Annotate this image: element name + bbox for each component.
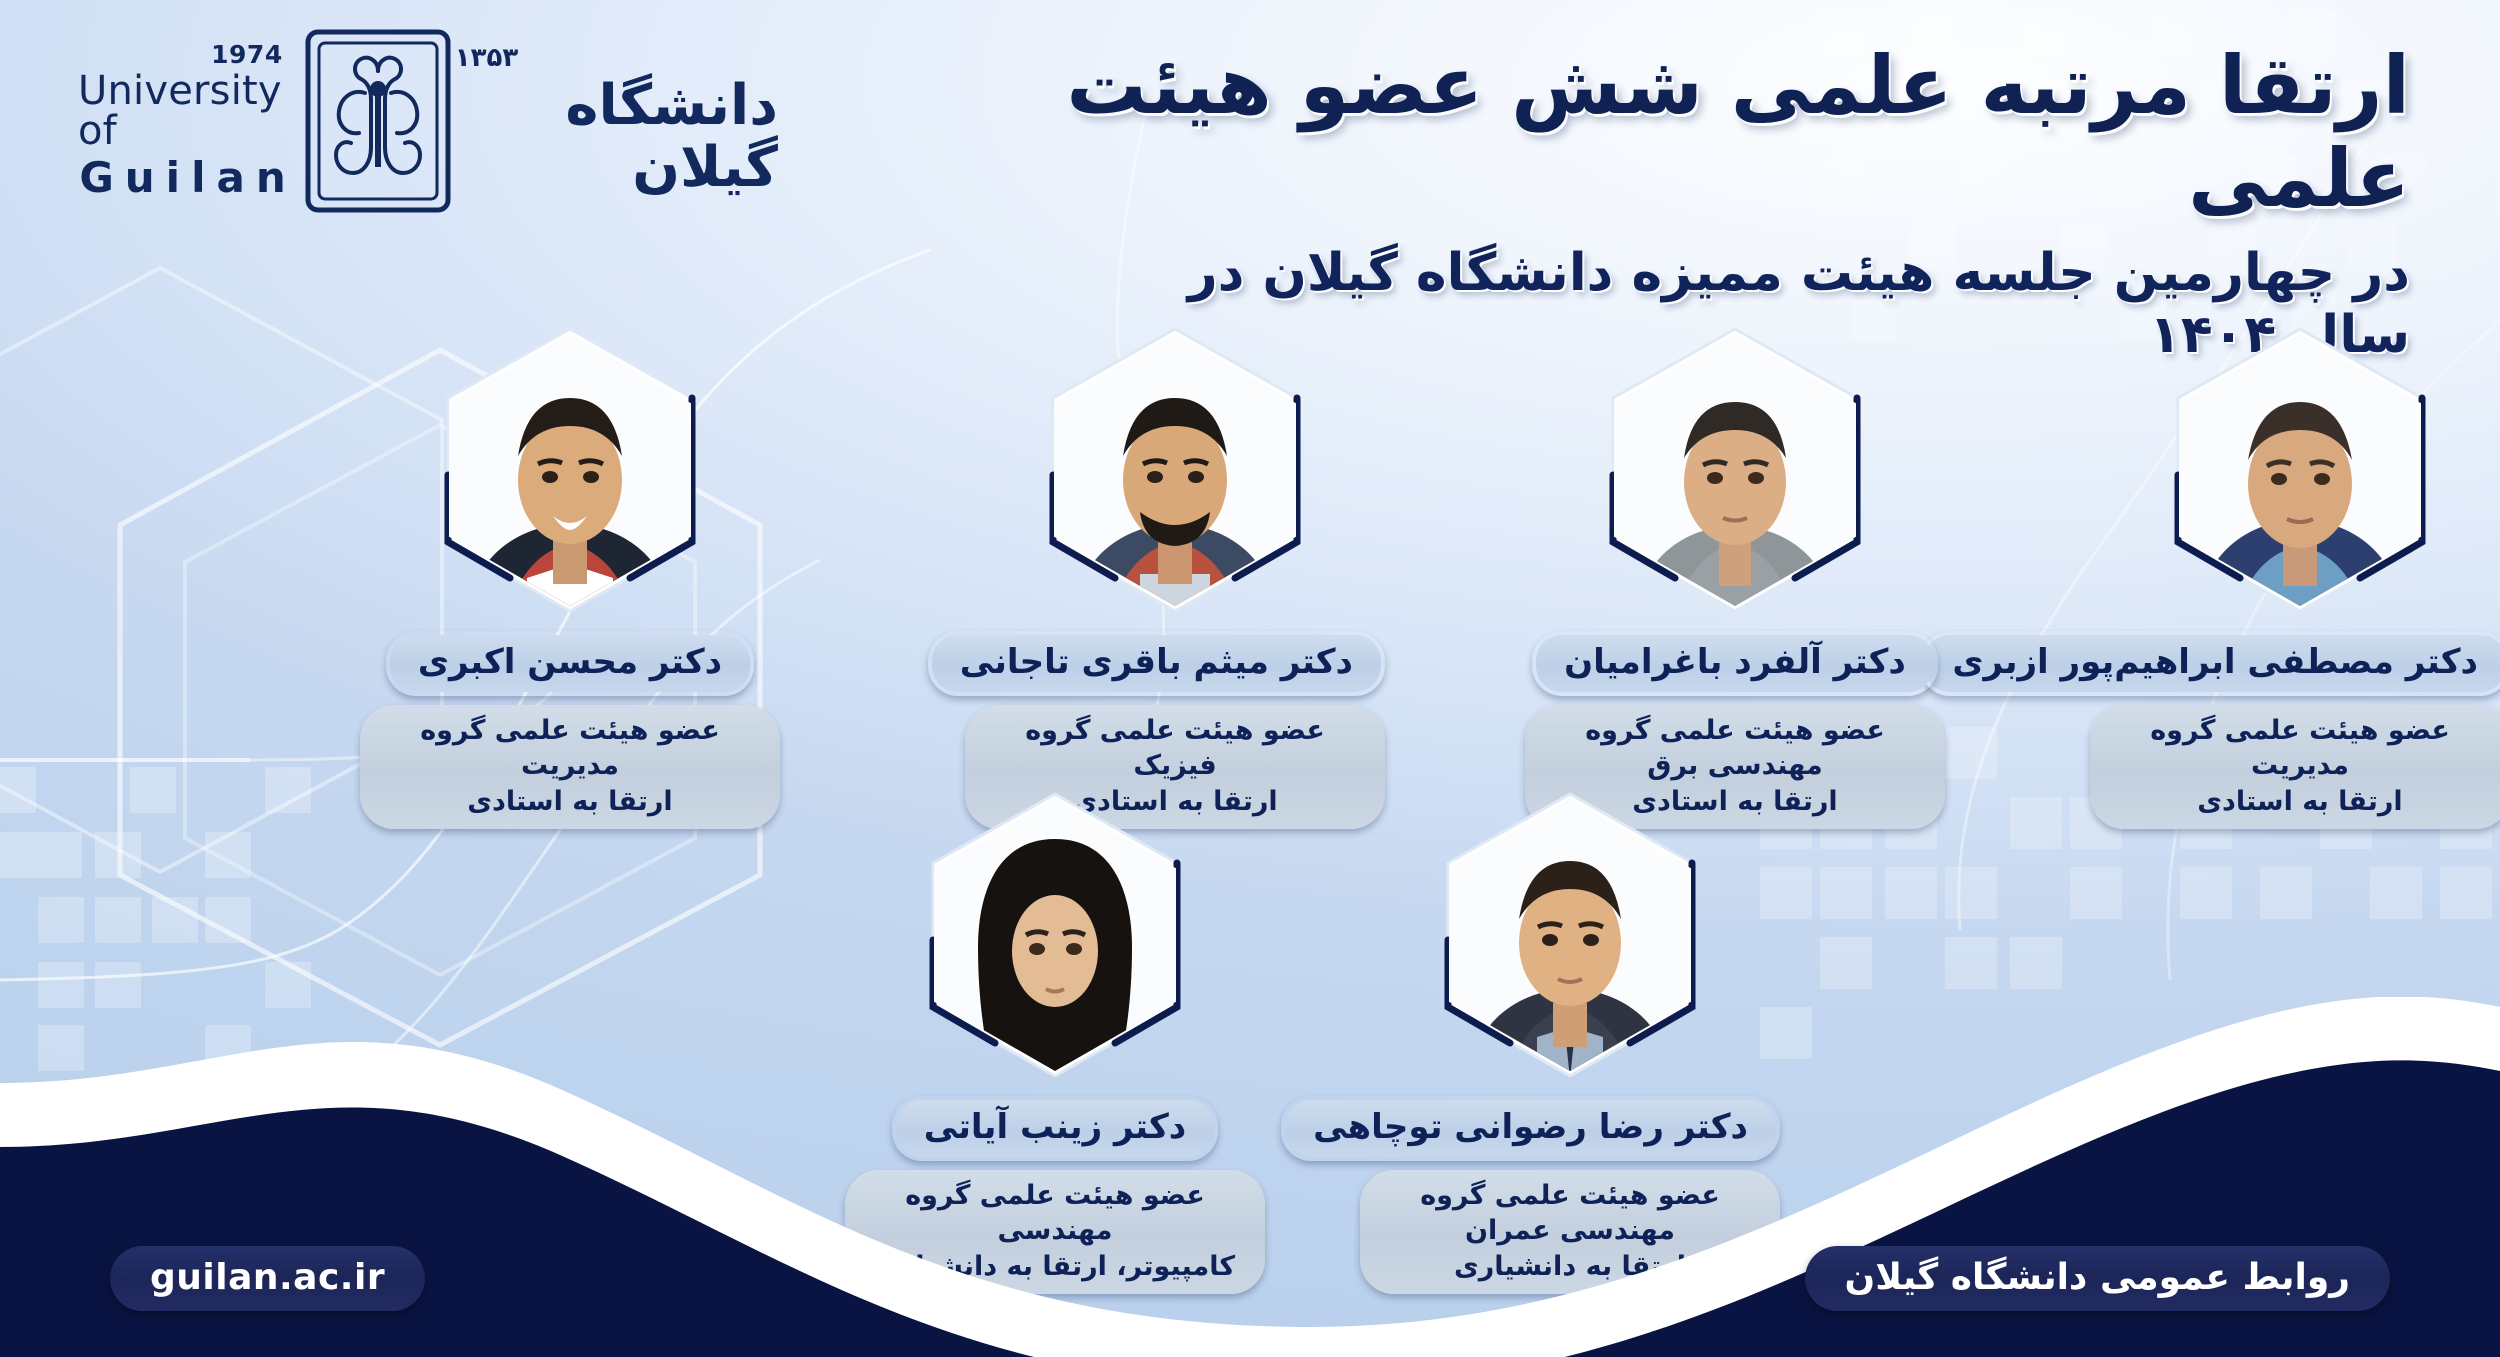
person-role-line2: ارتقا به استادی (382, 784, 758, 819)
photo-frame (1605, 325, 1865, 615)
person-card: دکتر میثم باقری تاجانی عضو هیئت علمی گرو… (965, 325, 1385, 829)
person-name: دکتر میثم باقری تاجانی (928, 631, 1385, 696)
poster-canvas: 1974 University of Guilan ۱۳۵۳ دانشگاه گ… (0, 0, 2500, 1357)
person-name: دکتر آلفرد باغرامیان (1532, 631, 1938, 696)
person-role-line2: ارتقا به استادی (2112, 784, 2488, 819)
public-relations-pill: روابط عمومی دانشگاه گیلان (1805, 1246, 2390, 1311)
person-card: دکتر مصطفی ابراهیم‌پور ازبری عضو هیئت عل… (2090, 325, 2500, 829)
person-card: دکتر محسن اکبری عضو هیئت علمی گروه مدیری… (360, 325, 780, 829)
person-name: دکتر محسن اکبری (386, 631, 754, 696)
person-role: عضو هیئت علمی گروه مدیریت ارتقا به استاد… (360, 705, 780, 828)
person-role-line1: عضو هیئت علمی گروه مدیریت (382, 713, 758, 783)
person-role-line1: عضو هیئت علمی گروه مدیریت (2112, 713, 2488, 783)
photo-frame (1045, 325, 1305, 615)
photo-frame (2170, 325, 2430, 615)
person-name: دکتر مصطفی ابراهیم‌پور ازبری (1920, 631, 2500, 696)
person-role: عضو هیئت علمی گروه مدیریت ارتقا به استاد… (2090, 705, 2500, 828)
website-pill[interactable]: guilan.ac.ir (110, 1246, 425, 1311)
person-role-line1: عضو هیئت علمی گروه مهندسی برق (1547, 713, 1923, 783)
person-card: دکتر آلفرد باغرامیان عضو هیئت علمی گروه … (1525, 325, 1945, 829)
person-role-line1: عضو هیئت علمی گروه فیزیک (987, 713, 1363, 783)
photo-frame (440, 325, 700, 615)
